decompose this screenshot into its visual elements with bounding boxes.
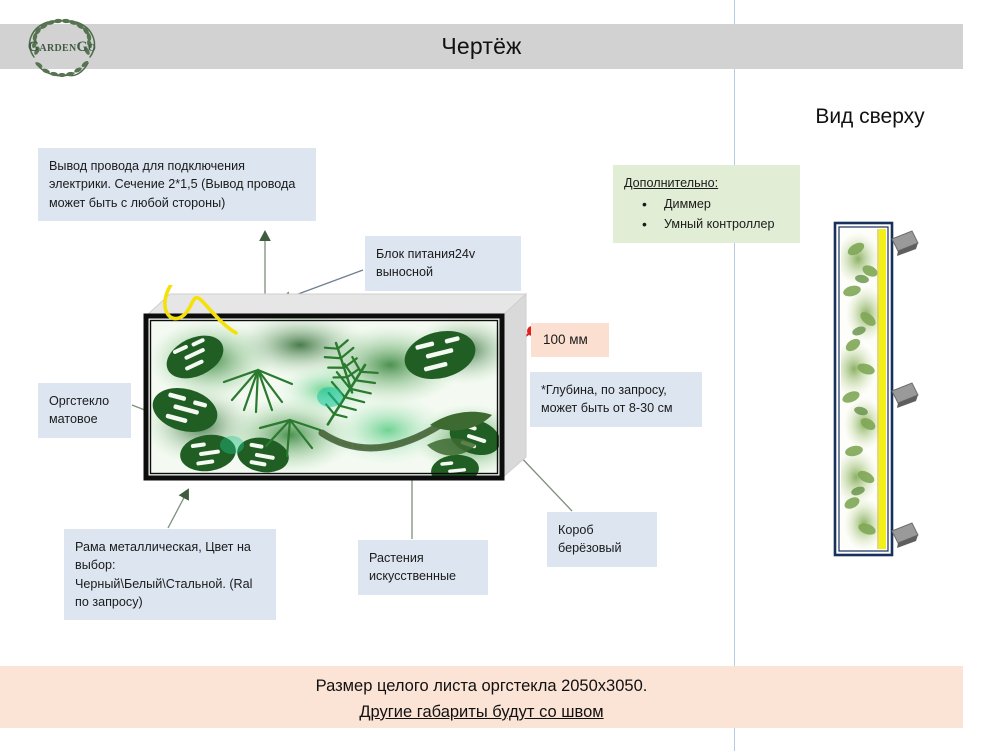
callout-additional-title: Дополнительно: <box>624 176 718 190</box>
topview-artwork <box>826 219 926 564</box>
banner-line-1: Размер целого листа оргстекла 2050х3050. <box>0 677 963 696</box>
callout-birch-box: Короб берёзовый <box>547 512 657 567</box>
front-view-artwork <box>140 285 540 510</box>
led-strip <box>879 229 886 549</box>
mounting-bracket <box>892 231 918 256</box>
callout-acrylic-glass: Оргстекло матовое <box>38 383 131 438</box>
additional-options-list: Диммер Умный контроллер <box>624 195 789 234</box>
mounting-bracket <box>892 523 918 548</box>
callout-depth-note: *Глубина, по запросу, может быть от 8-30… <box>530 372 702 427</box>
banner-line-2: Другие габариты будут со швом <box>0 703 963 722</box>
additional-option-item: Диммер <box>642 195 789 215</box>
page-title: Чертёж <box>0 24 963 69</box>
mounting-bracket <box>892 383 918 408</box>
callout-artificial-plants: Растения искусственные <box>358 540 488 595</box>
topview-title: Вид сверху <box>760 105 980 129</box>
vertical-guide-line <box>734 0 735 751</box>
bottom-banner: Размер целого листа оргстекла 2050х3050.… <box>0 666 963 728</box>
gardengo-logo: GardenGo <box>14 13 110 83</box>
callout-dimension-100mm: 100 мм <box>531 323 609 357</box>
callout-power-supply: Блок питания24v выносной <box>365 236 521 291</box>
callout-wire-output: Вывод провода для подключения электрики.… <box>38 148 316 221</box>
callout-additional-options: Дополнительно: Диммер Умный контроллер <box>613 165 800 243</box>
logo-text: GardenGo <box>14 39 110 56</box>
slide-canvas: Чертёж <box>0 0 1000 751</box>
additional-option-item: Умный контроллер <box>642 215 789 235</box>
callout-metal-frame: Рама металлическая, Цвет на выбор: Черны… <box>64 529 276 620</box>
